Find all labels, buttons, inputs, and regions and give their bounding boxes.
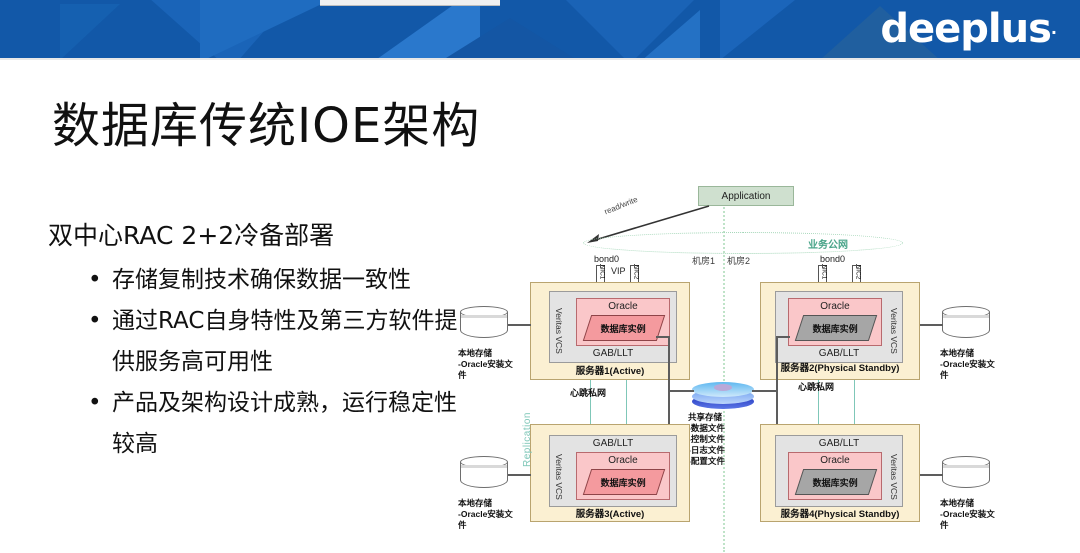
server-name-1: 服务器1(Active) — [531, 366, 689, 377]
gab-llt-label-1: GAB/LLT — [550, 348, 676, 359]
oracle-box-1: Oracle 数据库实例 — [576, 298, 670, 346]
local-storage-label-4: 本地存储 -Oracle安装文 件 — [940, 498, 1010, 531]
shared-link-left-riser — [668, 336, 670, 392]
local-storage-label-1: 本地存储 -Oracle安装文 件 — [458, 348, 528, 381]
shared-link-srv2 — [776, 336, 790, 338]
header-white-bar — [320, 0, 500, 6]
server-name-4: 服务器4(Physical Standby) — [761, 509, 919, 520]
bullet-text: 通过RAC自身特性及第三方软件提供服务高可用性 — [112, 301, 468, 383]
server-box-2: Veritas VCS Oracle 数据库实例 GAB/LLT 服务器2(Ph… — [760, 282, 920, 380]
oracle-label-1: Oracle — [577, 301, 669, 312]
nic-wire — [600, 264, 601, 268]
header-triangle-decoration — [200, 0, 330, 58]
storage-link-1 — [508, 324, 531, 326]
replication-label: Replication — [522, 412, 533, 467]
bullet-text: 产品及架构设计成熟，运行稳定性较高 — [112, 383, 468, 465]
public-network-label: 业务公网 — [808, 236, 848, 251]
lead-text: 双中心RAC 2+2冷备部署 — [48, 216, 334, 252]
bullet-marker: • — [88, 383, 112, 465]
veritas-vcs-label-2: Veritas VCS — [889, 308, 898, 350]
local-storage-cylinder-2 — [942, 306, 990, 342]
application-node: Application — [698, 186, 794, 206]
nic-wire — [822, 264, 823, 268]
bullet-marker: • — [88, 301, 112, 383]
server-box-3: GAB/LLT Veritas VCS Oracle 数据库实例 服务器3(Ac… — [530, 424, 690, 522]
veritas-vcs-label-4: Veritas VCS — [889, 454, 898, 496]
bond-label-server2: bond0 — [820, 254, 845, 264]
bullet-list: • 存储复制技术确保数据一致性 • 通过RAC自身特性及第三方软件提供服务高可用… — [88, 260, 468, 465]
local-storage-cylinder-1 — [460, 306, 508, 342]
local-storage-cylinder-4 — [942, 456, 990, 492]
local-storage-cylinder-3 — [460, 456, 508, 492]
gab-llt-label-2: GAB/LLT — [776, 348, 902, 359]
oracle-box-2: Oracle 数据库实例 — [788, 298, 882, 346]
list-item: • 存储复制技术确保数据一致性 — [88, 260, 468, 301]
logo-dot: . — [1051, 19, 1056, 38]
oracle-label-2: Oracle — [789, 301, 881, 312]
bullet-text: 存储复制技术确保数据一致性 — [112, 260, 468, 301]
server-box-1: Veritas VCS Oracle 数据库实例 GAB/LLT 服务器1(Ac… — [530, 282, 690, 380]
shared-link-right-riser — [776, 336, 778, 392]
shared-link-srv1 — [656, 336, 670, 338]
local-storage-label-3: 本地存储 -Oracle安装文 件 — [458, 498, 528, 531]
vcs-cluster-box-3: GAB/LLT Veritas VCS Oracle 数据库实例 — [549, 435, 677, 507]
veritas-vcs-label-3: Veritas VCS — [554, 454, 563, 496]
storage-link-2 — [920, 324, 943, 326]
shared-link-left — [668, 390, 694, 392]
server-box-4: GAB/LLT Veritas VCS Oracle 数据库实例 服务器4(Ph… — [760, 424, 920, 522]
datacenter-divider — [723, 204, 725, 552]
architecture-diagram: 机房1 机房2 Application read/write 业务公网 bond… — [430, 176, 1070, 553]
nic-wire — [856, 264, 857, 268]
db-instance-1: 数据库实例 — [583, 315, 665, 341]
datacenter-label-left: 机房1 — [692, 254, 715, 267]
db-instance-4: 数据库实例 — [795, 469, 877, 495]
list-item: • 通过RAC自身特性及第三方软件提供服务高可用性 — [88, 301, 468, 383]
storage-link-4 — [920, 474, 943, 476]
db-instance-2: 数据库实例 — [795, 315, 877, 341]
header-triangle-decoration — [640, 10, 700, 58]
veritas-vcs-label-1: Veritas VCS — [554, 308, 563, 350]
header-divider — [0, 58, 1080, 60]
heartbeat-label-left: 心跳私网 — [570, 386, 606, 399]
list-item: • 产品及架构设计成熟，运行稳定性较高 — [88, 383, 468, 465]
header-triangle-decoration — [60, 4, 120, 58]
server-name-2: 服务器2(Physical Standby) — [761, 363, 919, 374]
vip-label-server1: VIP — [611, 266, 626, 276]
deeplus-logo: deeplus. — [880, 7, 1056, 51]
page-title: 数据库传统IOE架构 — [52, 86, 480, 156]
shared-link-right — [752, 390, 778, 392]
vcs-cluster-box-2: Veritas VCS Oracle 数据库实例 GAB/LLT — [775, 291, 903, 363]
oracle-label-4: Oracle — [789, 455, 881, 466]
vcs-cluster-box-1: Veritas VCS Oracle 数据库实例 GAB/LLT — [549, 291, 677, 363]
shared-storage-label: 共享存储 -数据文件 -控制文件 -日志文件 -配置文件 — [688, 412, 762, 467]
public-network-cloud — [583, 232, 903, 254]
heartbeat-label-right: 心跳私网 — [798, 380, 834, 393]
server-name-3: 服务器3(Active) — [531, 509, 689, 520]
nic-wire — [634, 264, 635, 268]
slide-canvas: deeplus. 数据库传统IOE架构 双中心RAC 2+2冷备部署 • 存储复… — [0, 0, 1080, 553]
storage-link-3 — [508, 474, 531, 476]
local-storage-label-2: 本地存储 -Oracle安装文 件 — [940, 348, 1010, 381]
bullet-marker: • — [88, 260, 112, 301]
db-instance-3: 数据库实例 — [583, 469, 665, 495]
shared-storage-disk — [692, 380, 754, 412]
oracle-box-4: Oracle 数据库实例 — [788, 452, 882, 500]
bond-label-server1: bond0 — [594, 254, 619, 264]
oracle-box-3: Oracle 数据库实例 — [576, 452, 670, 500]
slide-header-banner: deeplus. — [0, 0, 1080, 58]
oracle-label-3: Oracle — [577, 455, 669, 466]
gab-llt-label-4: GAB/LLT — [776, 438, 902, 449]
vcs-cluster-box-4: GAB/LLT Veritas VCS Oracle 数据库实例 — [775, 435, 903, 507]
header-triangle-decoration — [720, 0, 815, 58]
gab-llt-label-3: GAB/LLT — [550, 438, 676, 449]
datacenter-label-right: 机房2 — [727, 254, 750, 267]
logo-text: deeplus — [880, 6, 1051, 52]
